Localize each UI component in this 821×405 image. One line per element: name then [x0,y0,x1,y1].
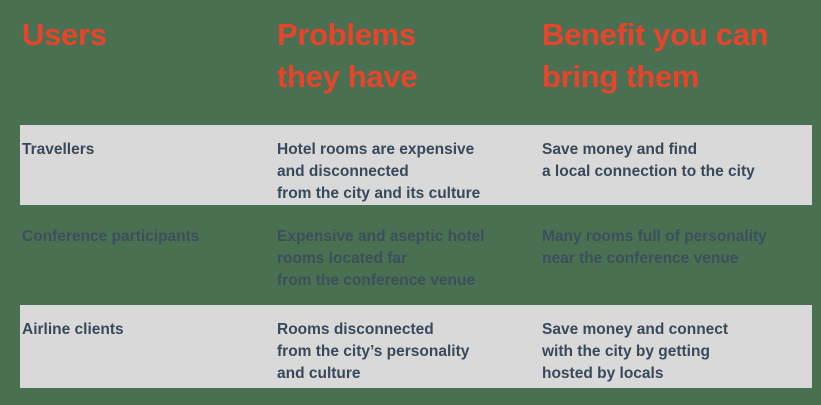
column-header-problems: Problems they have [277,14,532,98]
cell-benefit: Many rooms full of personality near the … [542,226,810,270]
cell-user: Conference participants [22,226,272,248]
cell-problem: Expensive and aseptic hotel rooms locate… [277,226,535,292]
cell-benefit: Save money and connect with the city by … [542,319,810,385]
cell-user: Airline clients [22,319,272,341]
value-proposition-table: Users Problems they have Benefit you can… [0,0,821,405]
table-row: Conference participants Expensive and as… [0,212,821,292]
cell-problem: Rooms disconnected from the city’s perso… [277,319,535,385]
table-row: Airline clients Rooms disconnected from … [0,305,821,388]
column-header-users: Users [22,14,272,56]
table-row: Travellers Hotel rooms are expensive and… [0,125,821,205]
column-header-benefits: Benefit you can bring them [542,14,814,98]
cell-benefit: Save money and find a local connection t… [542,139,810,183]
cell-user: Travellers [22,139,272,161]
table-header-row: Users Problems they have Benefit you can… [0,0,821,118]
cell-problem: Hotel rooms are expensive and disconnect… [277,139,535,205]
